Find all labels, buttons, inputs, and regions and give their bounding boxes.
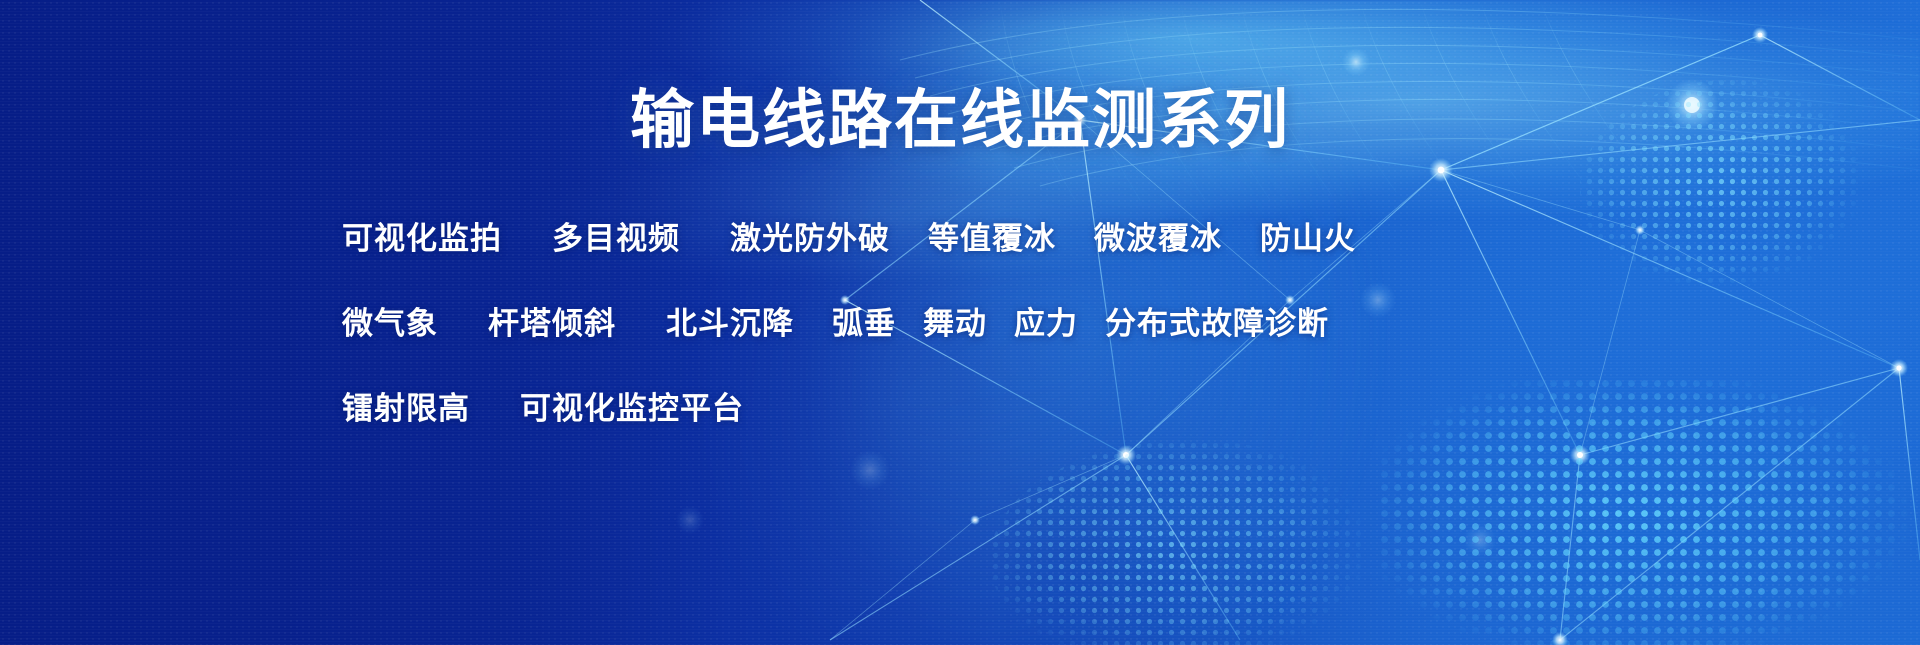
feature-item-laser-height-limit[interactable]: 镭射限高 <box>342 393 470 424</box>
feature-item-visual-monitoring[interactable]: 可视化监拍 <box>342 223 502 254</box>
banner-content: 输电线路在线监测系列 可视化监拍 多目视频 激光防外破 等值覆冰 微波覆冰 防山… <box>0 0 1920 645</box>
feature-item-tower-tilt[interactable]: 杆塔倾斜 <box>488 308 616 339</box>
feature-item-multi-lens-video[interactable]: 多目视频 <box>552 223 680 254</box>
feature-row-1: 可视化监拍 多目视频 激光防外破 等值覆冰 微波覆冰 防山火 <box>342 196 1342 281</box>
feature-item-fire-prevention[interactable]: 防山火 <box>1260 223 1356 254</box>
feature-row-2: 微气象 杆塔倾斜 北斗沉降 弧垂 舞动 应力 分布式故障诊断 <box>342 281 1342 366</box>
feature-row-3: 镭射限高 可视化监控平台 <box>342 366 1342 451</box>
feature-item-galloping[interactable]: 舞动 <box>923 308 987 339</box>
feature-list: 可视化监拍 多目视频 激光防外破 等值覆冰 微波覆冰 防山火 微气象 杆塔倾斜 … <box>342 196 1342 451</box>
feature-item-equivalent-icing[interactable]: 等值覆冰 <box>928 223 1056 254</box>
feature-item-distributed-fault-diagnosis[interactable]: 分布式故障诊断 <box>1105 308 1329 339</box>
feature-item-sag[interactable]: 弧垂 <box>832 308 896 339</box>
feature-item-microwave-icing[interactable]: 微波覆冰 <box>1094 223 1222 254</box>
feature-item-micro-meteorology[interactable]: 微气象 <box>342 308 438 339</box>
feature-item-laser-anti-damage[interactable]: 激光防外破 <box>730 223 890 254</box>
hero-banner: 输电线路在线监测系列 可视化监拍 多目视频 激光防外破 等值覆冰 微波覆冰 防山… <box>0 0 1920 645</box>
page-title: 输电线路在线监测系列 <box>0 88 1920 152</box>
feature-item-beidou-settlement[interactable]: 北斗沉降 <box>666 308 794 339</box>
feature-item-visual-monitoring-platform[interactable]: 可视化监控平台 <box>520 393 744 424</box>
feature-item-stress[interactable]: 应力 <box>1014 308 1078 339</box>
